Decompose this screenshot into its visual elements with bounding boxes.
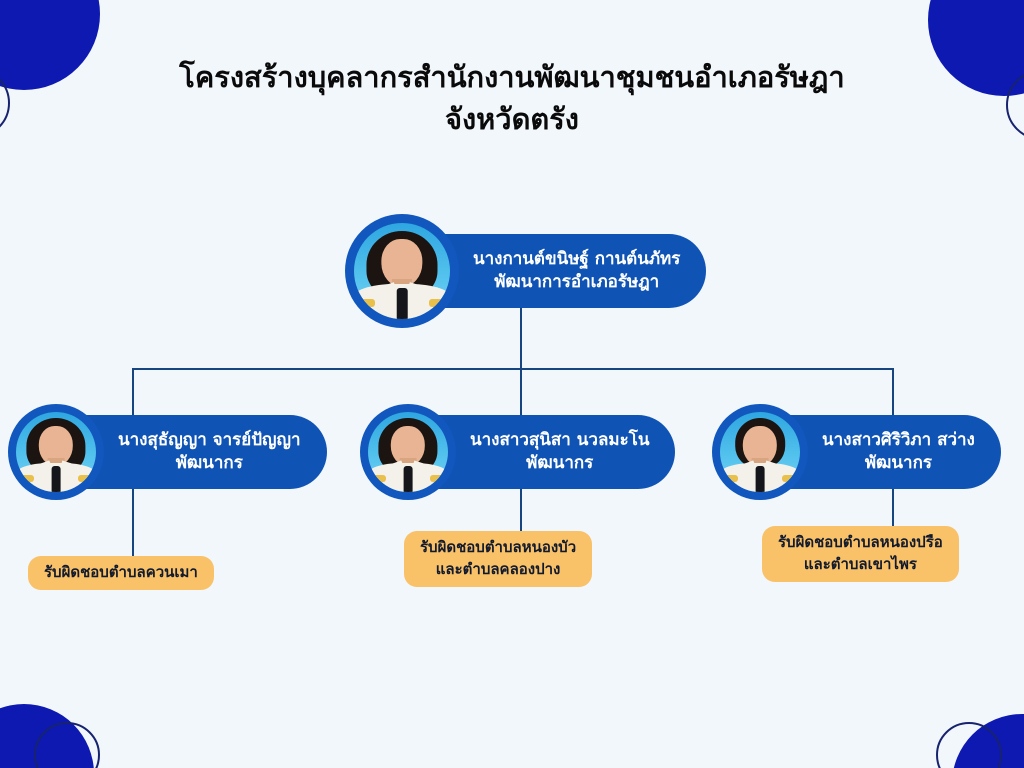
figure-necktie: [52, 466, 61, 492]
org-node-child-2-name: นางสาวสุนิสา นวลมะโน: [470, 429, 649, 452]
avatar-photo-root: [354, 223, 450, 319]
figure-insignia-right: [430, 475, 443, 482]
org-node-child-3-name: นางสาวศิริวิภา สว่าง: [822, 429, 975, 452]
figure-insignia-left: [373, 475, 386, 482]
avatar-photo-child-2: [368, 412, 448, 492]
org-node-child-1[interactable]: นางสุธัญญา จารย์ปัญญา พัฒนากร: [8, 404, 327, 500]
responsibility-badge-2-line-1: รับผิดชอบตำบลหนองบัว: [420, 537, 576, 559]
ring-bottom-right-icon: [936, 722, 1002, 768]
org-node-child-2[interactable]: นางสาวสุนิสา นวลมะโน พัฒนากร: [360, 404, 675, 500]
avatar-child-1: [8, 404, 104, 500]
responsibility-badge-3-line-1: รับผิดชอบตำบลหนองปรือ: [778, 532, 943, 554]
circle-bottom-right-icon: [952, 714, 1024, 768]
org-node-root[interactable]: นางกานต์ขนิษฐ์ กานต์นภัทร พัฒนาการอำเภอร…: [345, 214, 706, 328]
avatar-child-2: [360, 404, 456, 500]
responsibility-badge-1: รับผิดชอบตำบลควนเมา: [28, 556, 214, 590]
connector-horizontal-bus: [132, 368, 894, 370]
figure-insignia-right: [78, 475, 91, 482]
figure-necktie: [397, 288, 408, 319]
ring-bottom-left-icon: [34, 722, 100, 768]
responsibility-badge-1-line-1: รับผิดชอบตำบลควนเมา: [44, 562, 198, 584]
avatar-child-3: [712, 404, 808, 500]
org-node-child-2-role: พัฒนากร: [470, 452, 649, 475]
org-node-root-name: นางกานต์ขนิษฐ์ กานต์นภัทร: [473, 248, 680, 271]
figure-necktie: [756, 466, 765, 492]
org-node-child-3-role: พัฒนากร: [822, 452, 975, 475]
figure-necktie: [404, 466, 413, 492]
page-title-line-1: โครงสร้างบุคลากรสำนักงานพัฒนาชุมชนอำเภอร…: [0, 56, 1024, 98]
avatar-root: [345, 214, 459, 328]
avatar-photo-child-1: [16, 412, 96, 492]
avatar-photo-child-3: [720, 412, 800, 492]
responsibility-badge-3-line-2: และตำบลเขาไพร: [778, 554, 943, 576]
page-title: โครงสร้างบุคลากรสำนักงานพัฒนาชุมชนอำเภอร…: [0, 56, 1024, 140]
figure-insignia-left: [21, 475, 34, 482]
org-node-root-role: พัฒนาการอำเภอรัษฎา: [473, 271, 680, 294]
org-node-child-1-name: นางสุธัญญา จารย์ปัญญา: [118, 429, 301, 452]
responsibility-badge-2: รับผิดชอบตำบลหนองบัว และตำบลคลองปาง: [404, 531, 592, 587]
circle-bottom-left-icon: [0, 704, 94, 768]
figure-insignia-right: [782, 475, 795, 482]
responsibility-badge-3: รับผิดชอบตำบลหนองปรือ และตำบลเขาไพร: [762, 526, 959, 582]
responsibility-badge-2-line-2: และตำบลคลองปาง: [420, 559, 576, 581]
org-node-child-1-role: พัฒนากร: [118, 452, 301, 475]
page-title-line-2: จังหวัดตรัง: [0, 98, 1024, 140]
figure-insignia-right: [429, 299, 444, 308]
org-node-child-3[interactable]: นางสาวศิริวิภา สว่าง พัฒนากร: [712, 404, 1001, 500]
figure-insignia-left: [725, 475, 738, 482]
figure-insignia-left: [360, 299, 375, 308]
